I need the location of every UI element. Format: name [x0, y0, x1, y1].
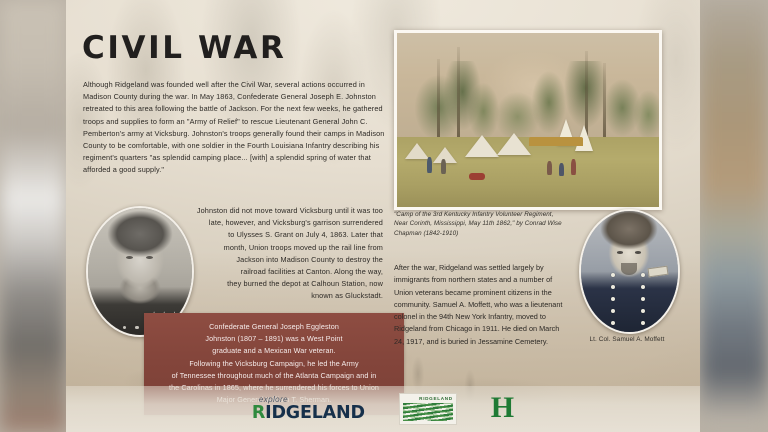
soldier-figure: [559, 163, 564, 176]
button-icon: [110, 326, 114, 330]
soldier-figure: [441, 159, 446, 174]
camp-lithograph-image: [394, 30, 662, 210]
portrait-eye-right: [635, 251, 641, 254]
tent-shape: [405, 143, 429, 159]
portrait-beard: [621, 263, 637, 275]
portrait-eye-left: [617, 251, 623, 254]
caption-line: "Camp of the 3rd Kentucky Infantry Volun…: [394, 210, 594, 219]
interpretive-panel: CIVIL WAR Although Ridgeland was founded…: [66, 0, 700, 432]
soldier-figure: [427, 157, 432, 173]
caption-line: Chapman (1842-1910): [394, 229, 594, 238]
button-icon: [641, 309, 645, 313]
uniform-buttons-left: [611, 273, 615, 325]
h-monogram-logo: H: [491, 393, 514, 423]
paragraph-line: After the war, Ridgeland was settled lar…: [394, 262, 579, 274]
portrait-eye-left: [126, 256, 133, 259]
explore-ridgeland-logo: explore RIDGELAND: [252, 396, 365, 423]
lithograph-artwork: [397, 33, 659, 207]
caption-line: Confederate General Joseph Eggleston: [154, 321, 394, 333]
soldier-figure: [547, 161, 552, 175]
button-icon: [611, 321, 615, 325]
caption-line: graduate and a Mexican War veteran.: [154, 345, 394, 357]
button-icon: [611, 309, 615, 313]
blanket-shape: [469, 173, 485, 180]
paragraph-line: community. Samuel A. Moffett, who was a …: [394, 299, 579, 311]
screenshot-stage: CIVIL WAR Although Ridgeland was founded…: [0, 0, 768, 432]
button-icon: [611, 285, 615, 289]
paragraph-line: 24, 1917, and is buried in Jessamine Cem…: [394, 336, 579, 348]
button-icon: [123, 326, 127, 330]
brush-arbor: [529, 137, 583, 146]
caption-line: Johnston (1807 – 1891) was a West Point: [154, 333, 394, 345]
button-icon: [641, 297, 645, 301]
ridgeland-mark-text: RIDGELAND: [400, 396, 453, 401]
caption-line: of Tennessee throughout much of the Atla…: [154, 370, 394, 382]
moffett-caption: Lt. Col. Samuel A. Moffett: [571, 336, 683, 343]
moffett-portrait: [579, 209, 680, 334]
ridgeland-wordmark-rest: IDGELAND: [265, 403, 365, 423]
tent-shape: [465, 135, 499, 157]
caption-line: Following the Vicksburg Campaign, he led…: [154, 358, 394, 370]
tent-shape: [497, 133, 531, 155]
button-icon: [641, 321, 645, 325]
intro-paragraph: Although Ridgeland was founded well afte…: [83, 79, 393, 177]
button-icon: [641, 285, 645, 289]
ridgeland-wordmark-r: R: [252, 403, 265, 423]
paragraph-line: immigrants from northern states and a nu…: [394, 274, 579, 286]
tree-trunk: [603, 63, 606, 143]
tree-trunk: [437, 59, 440, 145]
letterbox-right-blur: [700, 0, 768, 432]
tree-trunk: [457, 47, 460, 143]
paragraph-line: Union veterans became prominent citizens…: [394, 287, 579, 299]
ridgeland-wave-graphic: [403, 403, 453, 421]
paragraph-line: colonel in the 94th New York Infantry, m…: [394, 311, 579, 323]
paragraph-line: Ridgeland from Chicago in 1911. He died …: [394, 323, 579, 335]
button-icon: [611, 273, 615, 277]
uniform-buttons-right: [641, 273, 645, 325]
button-icon: [135, 326, 139, 330]
portrait-eye-right: [146, 256, 153, 259]
postwar-paragraph: After the war, Ridgeland was settled lar…: [394, 262, 579, 348]
caption-line: Near Corinth, Mississippi, May 11th 1862…: [394, 219, 594, 228]
ridgeland-city-logo: RIDGELAND: [399, 393, 457, 425]
soldier-figure: [571, 159, 576, 175]
lithograph-caption: "Camp of the 3rd Kentucky Infantry Volun…: [394, 210, 594, 238]
button-icon: [641, 273, 645, 277]
button-icon: [611, 297, 615, 301]
letterbox-left-blur: [0, 0, 66, 432]
page-title: CIVIL WAR: [82, 30, 286, 66]
logo-bar: explore RIDGELAND RIDGELAND H: [66, 386, 700, 432]
ridgeland-wordmark: RIDGELAND: [252, 405, 365, 423]
